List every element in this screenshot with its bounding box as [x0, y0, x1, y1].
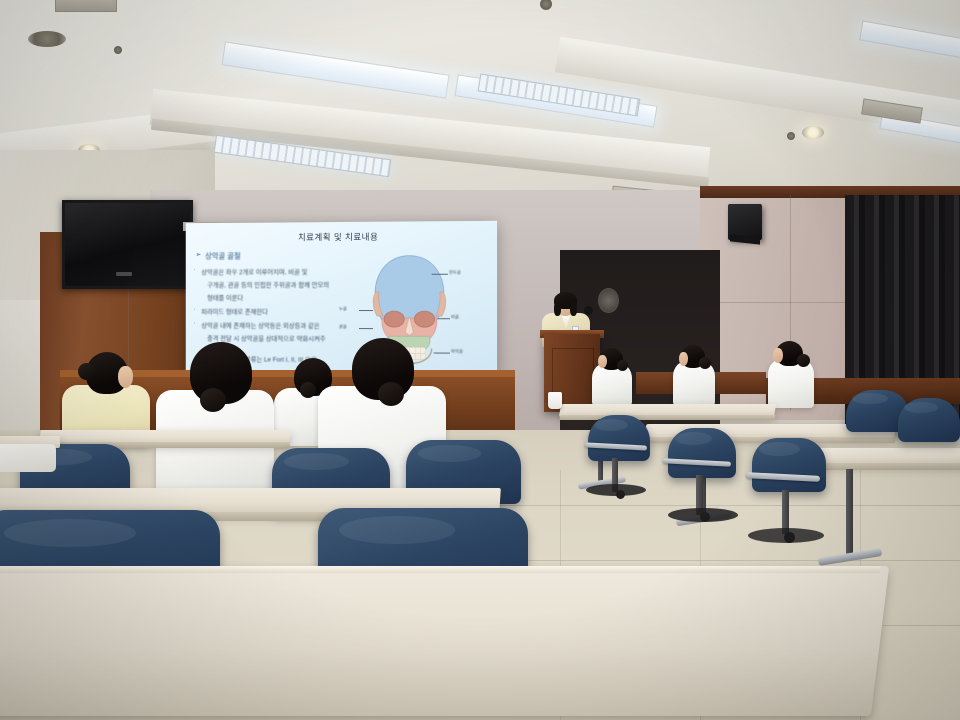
white-bag	[0, 444, 56, 472]
slide-bullet-marker-3: ·	[194, 321, 196, 327]
table-right-1-edge	[560, 415, 776, 420]
recessed-downlight-on-2	[802, 126, 824, 139]
chair-right-3[interactable]	[752, 438, 826, 492]
slide-bullet-5: 상악골 내에 존재하는 상악동은 외상등과 같은	[201, 321, 319, 330]
chair-right-3-highlight	[759, 442, 800, 456]
presenter-hair-right	[570, 302, 577, 316]
skull-lead-left-1	[359, 310, 373, 311]
attendee-5-face	[598, 355, 607, 368]
paper-cup	[548, 392, 562, 409]
skull-label-zygomatic: 관골	[339, 324, 347, 330]
floor-tile-line-1	[500, 505, 960, 506]
skull-label-frontal: 전두골	[449, 270, 461, 276]
slide-bullet-marker-1: ·	[194, 267, 196, 273]
slide-bullet-3: 형태를 이룬다	[207, 293, 243, 302]
wall-clock-icon	[598, 288, 619, 313]
attendee-7-face	[773, 348, 783, 363]
sprinkler-head-4	[787, 132, 795, 140]
slide-bullet-2: 구개골, 관골 등의 인접한 주위골과 함께 안모의	[207, 280, 329, 289]
table-foreground-edge	[0, 566, 880, 573]
lecture-hall-photo: 치료계획 및 치료내용 ➢ 상악골 골절 · 상악골은 좌우 2개로 이루어지며…	[0, 0, 960, 720]
table-right-3-leg	[846, 469, 853, 557]
slide-bullet-4: 피라미드 형태로 존재한다	[201, 307, 268, 316]
floor-tile-line-2	[470, 560, 960, 561]
skull-label-nasal: 비골	[451, 314, 459, 320]
skull-lead-left-2	[359, 328, 373, 329]
attendee-6-face	[679, 352, 688, 366]
attendee-5-bun	[617, 360, 628, 371]
chair-front-2-highlight	[284, 453, 349, 470]
chair-base-star-1	[586, 484, 646, 496]
chair-foreground-2-highlight	[339, 516, 455, 544]
slide-title: 치료계획 및 치료내용	[244, 230, 434, 243]
attendee-1-face	[118, 366, 133, 388]
attendee-2-bun	[200, 388, 226, 412]
slide-arrow-marker: ➢	[195, 251, 201, 259]
attendee-4-bun	[378, 382, 404, 406]
attendee-7-bun	[797, 354, 810, 367]
chair-front-3-highlight	[418, 445, 481, 462]
ceiling-vent-4	[55, 0, 117, 12]
right-wall-seam-h	[700, 302, 845, 303]
slide-heading: 상악골 골절	[205, 250, 241, 261]
chair-right-1-highlight	[594, 419, 628, 431]
chair-right-2-highlight	[675, 432, 712, 445]
chair-base-star-2	[668, 508, 738, 522]
chair-base-star-3	[748, 528, 824, 543]
recessed-downlight-off	[28, 31, 66, 47]
attendee-1-bun	[78, 363, 95, 380]
skull-lead-right-3	[434, 353, 450, 354]
table-foreground	[0, 566, 889, 716]
slide-bullet-1: 상악골은 좌우 2개로 이루어지며, 비골 및	[201, 267, 307, 276]
attendee-3-bun	[300, 382, 316, 398]
skull-label-lacrimal: 누골	[339, 306, 347, 312]
chair-right-5[interactable]	[898, 398, 960, 442]
tv-logo	[116, 272, 132, 276]
chair-foreground-1-highlight	[4, 519, 136, 548]
skull-lead-right-2	[438, 318, 450, 319]
attendee-6-bun	[699, 357, 711, 369]
skull-lead-right-1	[432, 274, 448, 275]
slide-bullet-marker-2: ·	[194, 307, 196, 313]
chair-right-5-highlight	[904, 402, 938, 413]
chair-right-2[interactable]	[668, 428, 736, 478]
chair-right-1[interactable]	[588, 415, 650, 461]
presenter-hair-left	[554, 302, 561, 316]
sprinkler-head-1	[114, 46, 122, 54]
skull-label-mandible: 하악골	[451, 349, 463, 355]
chair-right-4-highlight	[852, 393, 887, 404]
